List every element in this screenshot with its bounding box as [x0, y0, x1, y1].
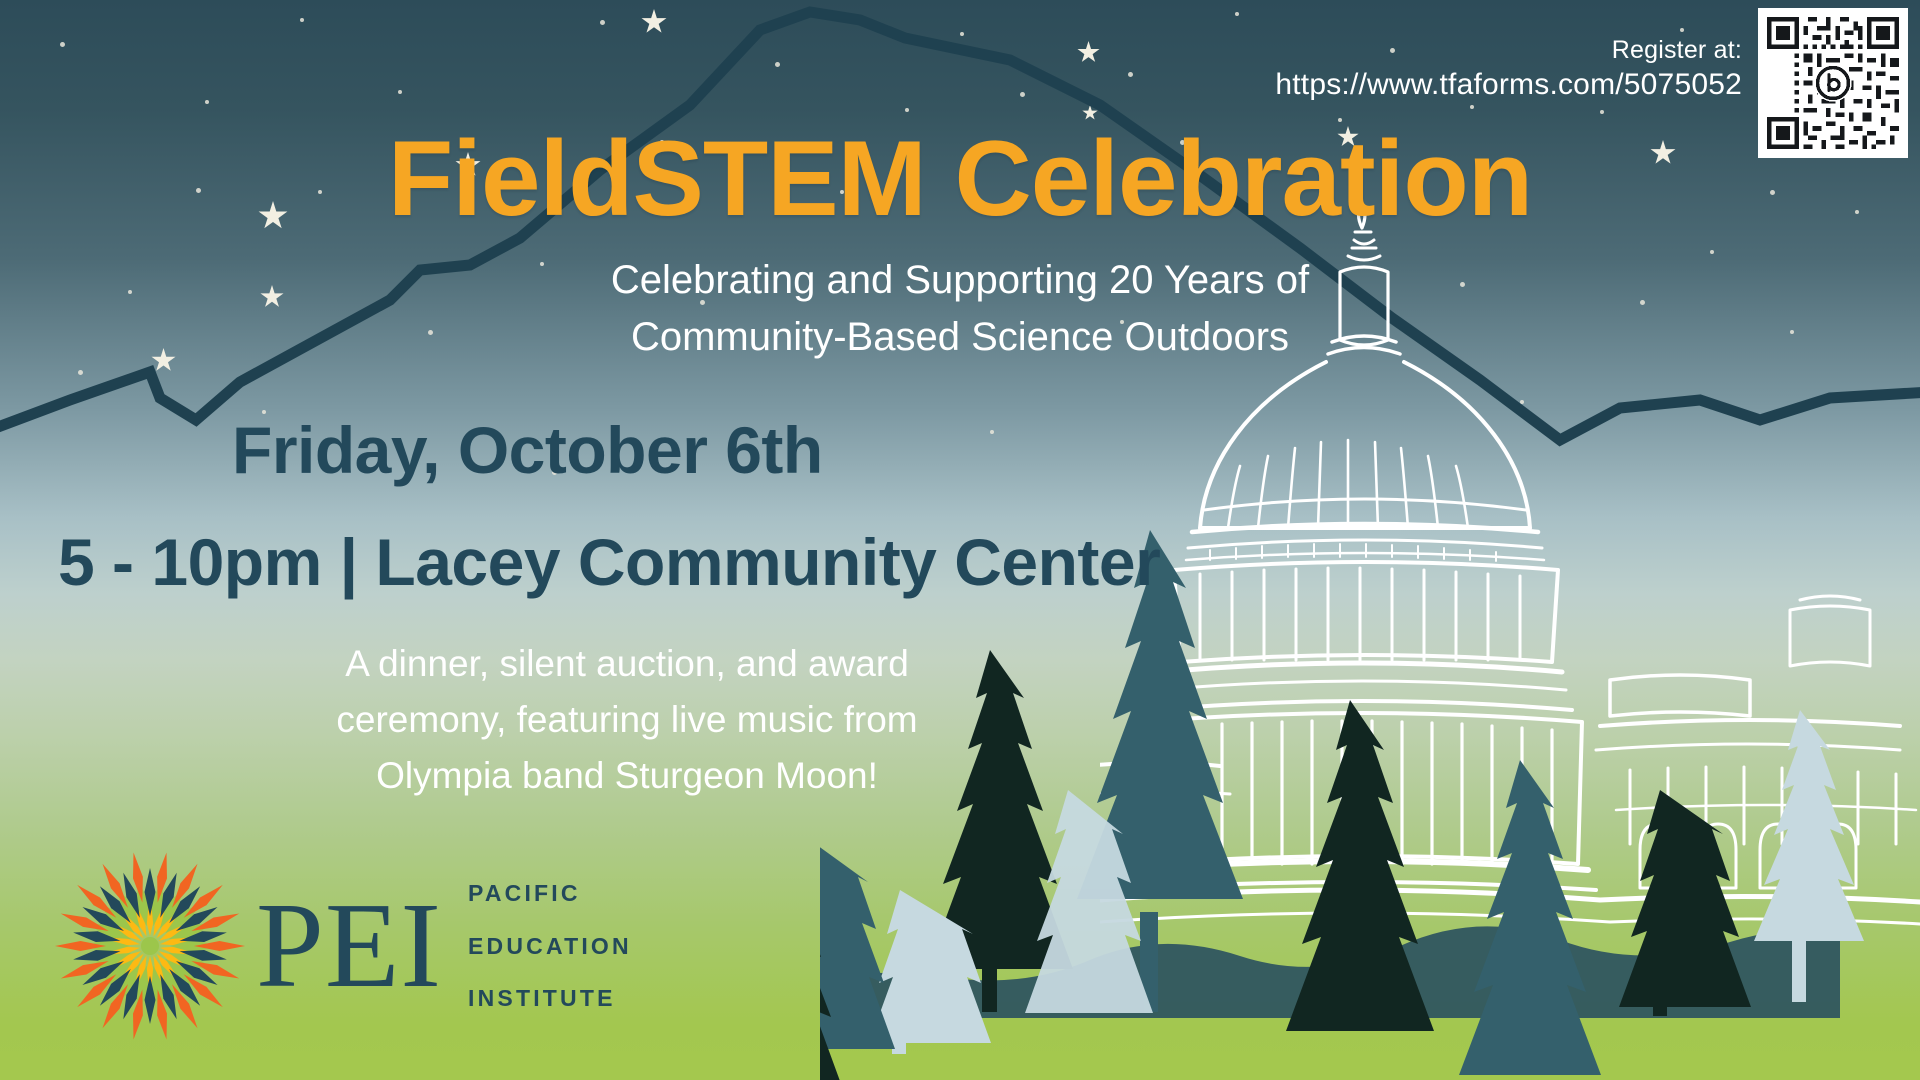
pei-acronym: PEI [256, 885, 442, 1007]
event-time-venue: 5 - 10pm | Lacey Community Center [58, 524, 1160, 600]
page-subtitle: Celebrating and Supporting 20 Years of C… [0, 252, 1920, 366]
poster-canvas: Register at: https://www.tfaforms.com/50… [0, 0, 1920, 1080]
description-line-3: Olympia band Sturgeon Moon! [272, 748, 982, 804]
pei-wordmark: PACIFIC EDUCATION INSTITUTE [468, 867, 632, 1024]
pei-logo: PEI PACIFIC EDUCATION INSTITUTE [50, 846, 632, 1046]
description-line-2: ceremony, featuring live music from [272, 692, 982, 748]
description-line-1: A dinner, silent auction, and award [272, 636, 982, 692]
pei-word-education: EDUCATION [468, 920, 632, 972]
page-title: FieldSTEM Celebration [0, 122, 1920, 234]
register-block: Register at: https://www.tfaforms.com/50… [1275, 34, 1742, 104]
pei-word-pacific: PACIFIC [468, 867, 632, 919]
subtitle-line-2: Community-Based Science Outdoors [0, 309, 1920, 366]
sunburst-icon [50, 846, 250, 1046]
event-date: Friday, October 6th [232, 412, 823, 488]
subtitle-line-1: Celebrating and Supporting 20 Years of [0, 252, 1920, 309]
register-label: Register at: [1275, 34, 1742, 66]
event-description: A dinner, silent auction, and award cere… [272, 636, 982, 805]
register-url[interactable]: https://www.tfaforms.com/5075052 [1275, 66, 1742, 104]
pei-word-institute: INSTITUTE [468, 972, 632, 1024]
